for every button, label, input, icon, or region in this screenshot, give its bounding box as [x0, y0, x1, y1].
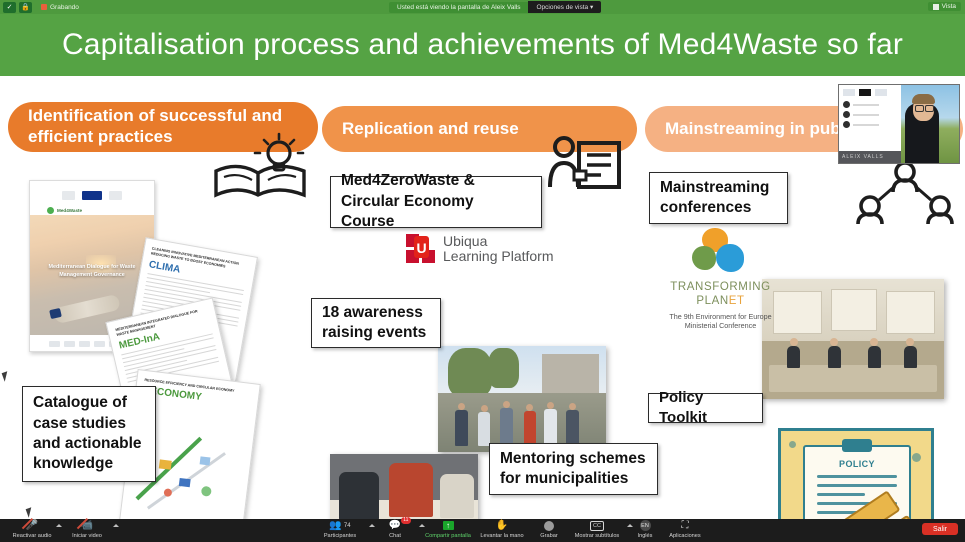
person — [389, 463, 433, 517]
chat-bubble-icon: 💬11 — [389, 520, 401, 531]
share-screen-icon: ↑ — [443, 520, 454, 531]
view-options-button[interactable]: Opciones de vista ▾ — [528, 1, 601, 13]
view-label: Vista — [942, 3, 956, 10]
plastic-bottle-shape — [53, 294, 121, 324]
view-layout-button[interactable]: Vista — [928, 2, 961, 11]
chevron-down-icon: ▾ — [590, 4, 593, 11]
speaker-hair — [912, 94, 935, 104]
recording-label: Grabando — [50, 4, 79, 11]
chat-unread-badge: 11 — [401, 517, 411, 524]
people-icon: 👥74 — [329, 520, 350, 531]
callout-catalogue-label: Catalogue of case studies and actionable… — [33, 393, 145, 475]
ubiqua-logo: U Ubiqua Learning Platform — [400, 231, 560, 268]
callout-policy-toolkit: Policy Toolkit — [648, 393, 763, 423]
closed-caption-icon: CC — [590, 520, 604, 531]
svg-text:U: U — [416, 240, 426, 256]
callout-policy-label: Policy Toolkit — [659, 388, 752, 428]
zoom-top-bar: ✓ 🔒 Grabando Usted está viendo la pantal… — [0, 0, 965, 14]
callout-mentoring-label: Mentoring schemes for municipalities — [500, 449, 647, 490]
person — [524, 411, 536, 446]
med4waste-logo-label: Med4Waste — [57, 208, 82, 213]
tp-line1: TRANSFORMING — [670, 281, 770, 293]
apps-icon: ⛶ — [682, 520, 689, 531]
photo-workshop — [330, 454, 478, 519]
glasses-icon — [925, 105, 934, 112]
participant-count: 74 — [344, 523, 351, 529]
person — [566, 410, 579, 446]
toolbar-label: Compartir pantalla — [425, 533, 471, 539]
slide-canvas: Identification of successful and efficie… — [0, 76, 965, 519]
toolbar-label: Chat — [389, 533, 401, 539]
policy-board-title: POLICY — [805, 459, 909, 469]
lock-icon[interactable]: 🔒 — [19, 2, 32, 13]
background-slide: ALEIX VALLS — [839, 85, 901, 163]
slide-logos — [839, 85, 901, 98]
ubiqua-name: Ubiqua — [443, 234, 554, 249]
glasses-icon — [915, 105, 924, 112]
person — [440, 474, 474, 518]
network-people-icon — [855, 156, 955, 226]
slide-bullet — [843, 111, 897, 118]
callout-course-label: Med4ZeroWaste & Circular Economy Course — [341, 171, 531, 232]
camera-muted-icon: 📹 — [81, 520, 93, 531]
slide-bullet — [843, 101, 897, 108]
person — [500, 408, 513, 446]
callout-mainstreaming-conferences: Mainstreaming conferences — [649, 172, 788, 224]
person — [544, 409, 557, 446]
leave-meeting-button[interactable]: Salir — [922, 523, 958, 535]
zoom-meeting-window: ✓ 🔒 Grabando Usted está viendo la pantal… — [0, 0, 965, 542]
slide-bullet — [843, 121, 897, 128]
transforming-planet-logo: TRANSFORMING PLANET The 9th Environment … — [658, 228, 783, 331]
transforming-planet-mark-icon — [690, 228, 752, 276]
viewing-screen-label: Usted está viendo la pantalla de Aleix V… — [389, 2, 528, 13]
toolbar-label: Participantes — [324, 533, 356, 539]
zoom-toolbar: 🎤 Reactivar audio 📹 Iniciar video 👥74 Pa… — [0, 519, 965, 542]
record-dot-icon — [41, 4, 47, 10]
panelist — [787, 346, 800, 368]
tp-line2-left: PLAN — [696, 295, 728, 307]
tree — [448, 348, 492, 397]
encryption-shield-icon[interactable]: ✓ — [3, 2, 16, 13]
tp-line2-right: ET — [729, 295, 745, 307]
callout-catalogue: Catalogue of case studies and actionable… — [22, 386, 156, 482]
speaker-video-thumbnail[interactable]: ALEIX VALLS — [838, 84, 960, 164]
transforming-planet-subtitle: The 9th Environment for Europe Ministeri… — [658, 312, 783, 331]
banner-mainstreaming-label: Mainstreaming in publ — [665, 119, 845, 140]
toolbar-label: Grabar — [540, 533, 557, 539]
person — [455, 410, 468, 446]
recording-indicator[interactable]: Grabando — [41, 4, 79, 11]
panelist — [904, 346, 917, 368]
record-circle-icon — [544, 520, 554, 531]
callout-awareness-events: 18 awareness raising events — [311, 298, 441, 348]
ubiqua-mark-icon: U — [406, 234, 436, 264]
chevron-up-icon[interactable] — [113, 524, 119, 527]
callout-mainstreaming-label: Mainstreaming conferences — [660, 178, 777, 219]
transforming-planet-name: TRANSFORMING PLANET — [658, 280, 783, 308]
person — [478, 412, 490, 446]
slide-title: Capitalisation process and achievements … — [0, 14, 965, 76]
presentation-screen — [886, 291, 935, 334]
slide-title-band: Capitalisation process and achievements … — [0, 14, 965, 76]
photo-awareness-event — [438, 346, 606, 452]
med4waste-mark-icon — [47, 207, 54, 214]
toolbar-label: Reactivar audio — [13, 533, 52, 539]
speaker-name-strip: ALEIX VALLS — [839, 151, 904, 163]
shared-screen-slide: Capitalisation process and achievements … — [0, 14, 965, 519]
raise-hand-icon: ✋ — [496, 520, 508, 531]
panelist — [828, 346, 841, 368]
brochure-title: Mediterranean Dialogue for Waste Managem… — [38, 263, 146, 279]
microphone-muted-icon: 🎤 — [26, 520, 38, 531]
callout-course: Med4ZeroWaste & Circular Economy Course — [330, 176, 542, 228]
cc-label: CC — [590, 521, 604, 531]
toolbar-label: Aplicaciones — [669, 533, 700, 539]
person — [339, 472, 379, 519]
language-icon: EN — [640, 520, 651, 531]
banner-replication-label: Replication and reuse — [342, 119, 519, 140]
panelist — [868, 346, 881, 368]
panel-table — [769, 365, 936, 391]
toolbar-label: Iniciar video — [72, 533, 102, 539]
layout-grid-icon — [933, 4, 939, 10]
view-options-label: Opciones de vista — [536, 4, 588, 11]
presentation-person-icon — [547, 131, 622, 209]
screen-share-notice: Usted está viendo la pantalla de Aleix V… — [389, 1, 601, 13]
ubiqua-tagline: Learning Platform — [443, 249, 554, 264]
tree — [488, 348, 518, 388]
presentation-screen — [831, 289, 877, 332]
toolbar-start-video[interactable]: 📹 Iniciar video — [55, 520, 119, 539]
language-code: EN — [640, 520, 651, 531]
photo-conference — [762, 279, 944, 399]
callout-awareness-label: 18 awareness raising events — [322, 303, 430, 344]
clipboard-clip-icon — [842, 439, 872, 452]
toolbar-label: Inglés — [638, 533, 653, 539]
open-book-idea-icon — [210, 131, 310, 201]
toolbar-apps[interactable]: ⛶ Aplicaciones — [653, 520, 717, 539]
policy-toolkit-illustration: POLICY — [778, 428, 934, 519]
callout-mentoring: Mentoring schemes for municipalities — [489, 443, 658, 495]
